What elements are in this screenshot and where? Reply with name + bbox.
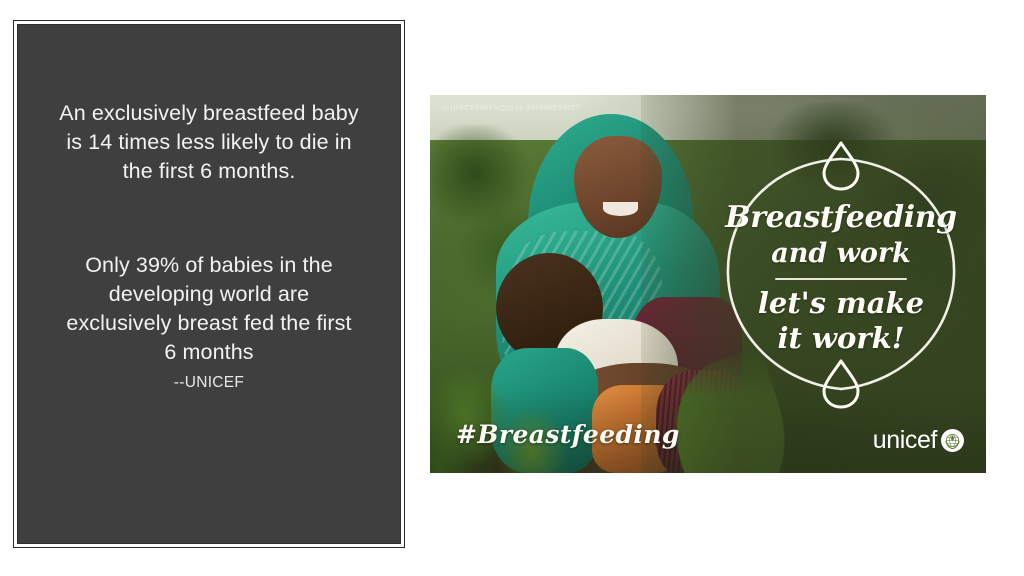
slide-canvas: An exclusively breastfeed baby is 14 tim… [0,0,1024,576]
stat-two-block: Only 39% of babies in the developing wor… [59,251,359,392]
unicef-logo-lockup: unicef [873,428,964,453]
unicef-wordmark: unicef [873,428,937,453]
emblem-line-breastfeeding: Breastfeeding [725,203,956,234]
source-attribution: --UNICEF [59,373,359,393]
stat-one-text: An exclusively breastfeed baby is 14 tim… [59,99,359,185]
campaign-emblem: Breastfeeding and work let's make it wor… [706,139,976,411]
emblem-text-lines: Breastfeeding and work let's make it wor… [706,139,976,411]
emblem-line-lets-make: let's make [758,289,924,319]
stat-two-text: Only 39% of babies in the developing wor… [59,251,359,366]
statistics-panel: An exclusively breastfeed baby is 14 tim… [13,20,405,548]
unicef-globe-emblem-icon [941,429,964,452]
hashtag-breastfeeding: #Breastfeeding [456,420,680,449]
photo-credit-text: © UNICEF/NYHQ2014-3045/NESBITT [442,103,581,112]
emblem-line-and-work: and work [771,240,911,268]
statistics-content: An exclusively breastfeed baby is 14 tim… [59,99,359,393]
unicef-campaign-image: © UNICEF/NYHQ2014-3045/NESBITT Breastfee… [430,95,986,473]
emblem-line-it-work: it work! [778,324,905,354]
emblem-divider-rule [775,278,907,280]
